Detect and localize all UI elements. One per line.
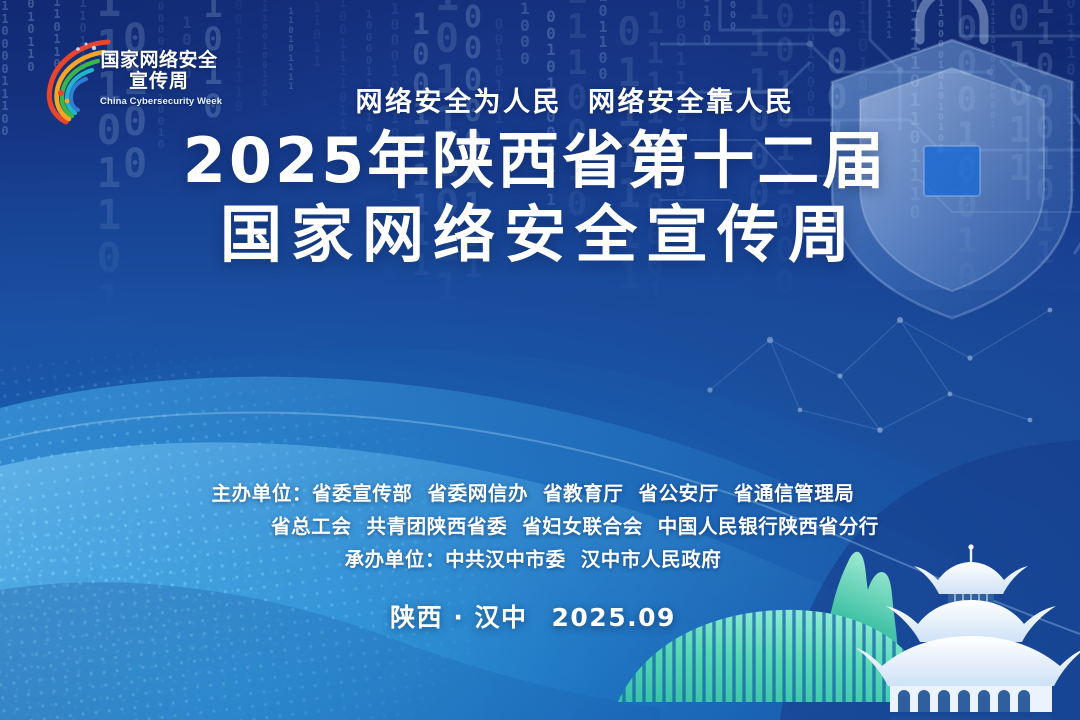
footer-block: 陕西 · 汉中2025.09 <box>0 598 1080 634</box>
page-title: 2025年陕西省第十二届 国家网络安全宣传周 <box>0 130 1080 266</box>
slogan-part-1: 网络安全为人民 <box>356 87 563 118</box>
host-6: 省总工会 <box>271 515 351 538</box>
footer-date: 2025.09 <box>552 603 676 632</box>
logo-title-line1: 国家网络安全 <box>100 50 218 71</box>
slogan-part-2: 网络安全靠人民 <box>588 87 795 118</box>
title-line-2: 国家网络安全宣传周 <box>0 204 1070 266</box>
host-5: 省通信管理局 <box>734 482 855 505</box>
host-1: 省委宣传部 <box>312 482 413 505</box>
host-4: 省公安厅 <box>638 482 718 505</box>
footer-location: 陕西 · 汉中 <box>390 603 527 632</box>
undertaker-2: 汉中市人民政府 <box>581 548 722 571</box>
host-7: 共青团陕西省委 <box>366 515 507 538</box>
undertaker-1: 中共汉中市委 <box>445 548 566 571</box>
host-3: 省教育厅 <box>543 482 623 505</box>
undertaker-row: 承办单位：中共汉中市委汉中市人民政府 <box>0 544 1066 577</box>
host-row-1: 主办单位：省委宣传部省委网信办省教育厅省公安厅省通信管理局 <box>0 478 1066 511</box>
host-2: 省委网信办 <box>428 482 529 505</box>
host-9: 中国人民银行陕西省分行 <box>658 515 879 538</box>
host-row-2: 省总工会共青团陕西省委省妇女联合会中国人民银行陕西省分行 <box>0 511 1066 544</box>
host-8: 省妇女联合会 <box>522 515 643 538</box>
poster-canvas: 0 1 1 0 0 0 0 1 1 1 0 0 0 0 0 0 1 0 1 1 … <box>0 0 1080 720</box>
footer-line: 陕西 · 汉中2025.09 <box>390 603 676 632</box>
organizer-block: 主办单位：省委宣传部省委网信办省教育厅省公安厅省通信管理局 省总工会共青团陕西省… <box>0 478 1080 576</box>
host-label: 主办单位： <box>212 482 313 505</box>
undertaker-label: 承办单位： <box>345 548 446 571</box>
slogan-line: 网络安全为人民网络安全靠人民 <box>0 80 1080 119</box>
title-line-1: 2025年陕西省第十二届 <box>0 130 1070 192</box>
